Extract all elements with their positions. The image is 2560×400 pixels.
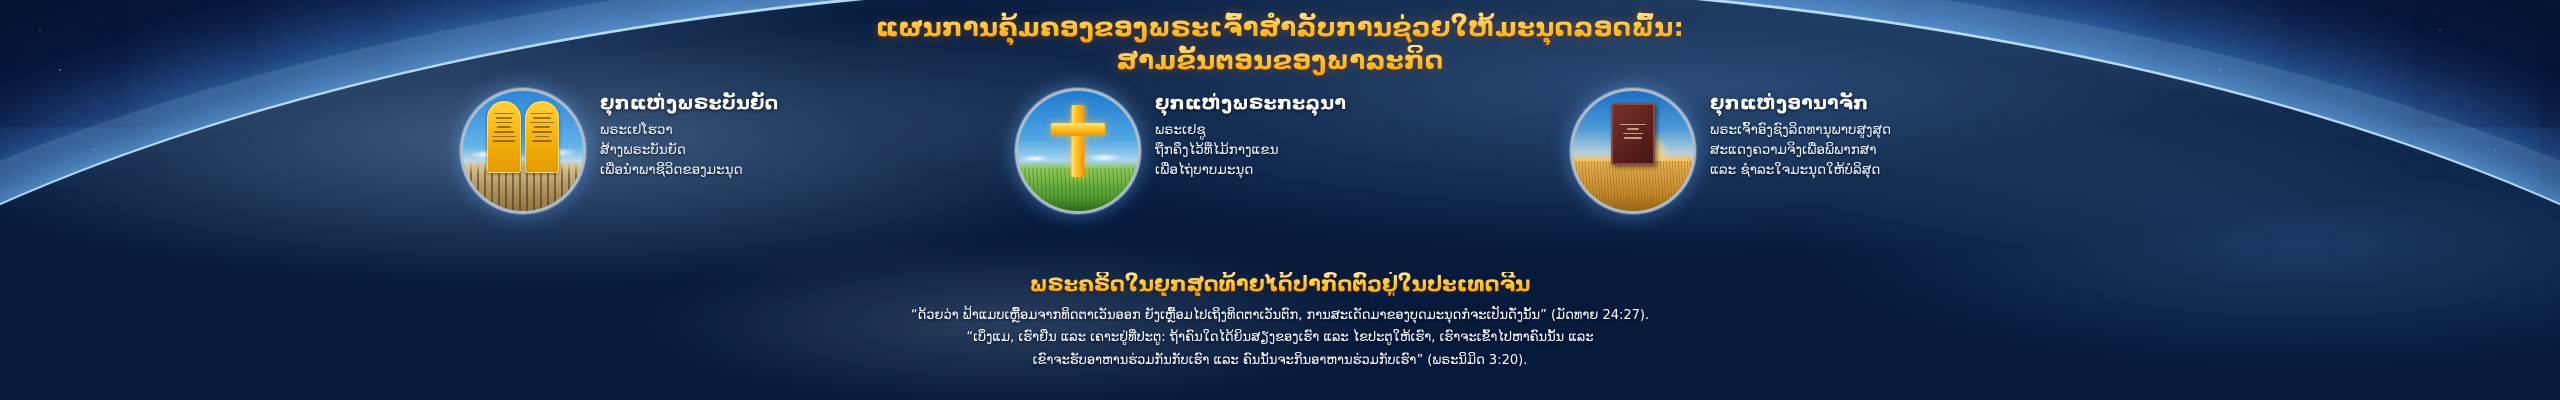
stage-panel-grace: ຍຸກແຫ່ງພຣະກະລຸນາ ພຣະເຢຊູ ຖືກຄຶງໄວ້ທີ່ໄມ້… (1015, 88, 1545, 214)
stage-panel-law: ຍຸກແຫ່ງພຣະບັນຍັດ ພຣະເຢໂຮວາ ສ້າງພຣະບັນຍັດ… (460, 88, 990, 214)
book-icon (1570, 88, 1696, 214)
stage-line: ສະແດງຄວາມຈິງເພື່ອພິພາກສາ (1710, 140, 1891, 160)
stage-heading: ຍຸກແຫ່ງອານາຈັກ (1710, 92, 1891, 116)
stage-line: ພຣະເຈົ້າອົງຊົງລິດທານຸພາບສູງສຸດ (1710, 120, 1891, 140)
cross-icon (1015, 88, 1141, 214)
stage-line: ແລະ ຊຳລະໃຈມະນຸດໃຫ້ບໍລິສຸດ (1710, 160, 1891, 180)
stage-heading: ຍຸກແຫ່ງພຣະກະລຸນາ (1155, 92, 1346, 116)
stage-line: ຖືກຄຶງໄວ້ທີ່ໄມ້ກາງແຂນ (1155, 140, 1346, 160)
stage-panel-kingdom: ຍຸກແຫ່ງອານາຈັກ ພຣະເຈົ້າອົງຊົງລິດທານຸພາບສ… (1570, 88, 2100, 214)
stage-heading: ຍຸກແຫ່ງພຣະບັນຍັດ (600, 92, 778, 116)
stone-tablets-icon (460, 88, 586, 214)
title-line-2: ສາມຂັ້ນຕອນຂອງພາລະກິດ (0, 45, 2560, 78)
stage-text-grace: ຍຸກແຫ່ງພຣະກະລຸນາ ພຣະເຢຊູ ຖືກຄຶງໄວ້ທີ່ໄມ້… (1155, 88, 1346, 181)
stage-line: ພຣະເຢຊູ (1155, 120, 1346, 140)
scripture-line: ເຂົາຈະຮັບອາຫານຮ່ວມກັນກັບເຮົາ ແລະ ຄົນນັ້ນ… (630, 350, 1930, 372)
scripture-line: “ດ້ວຍວ່າ ຟ້າແມບເຫຼື້ອມຈາກທິດຕາເວັນອອກ ຍັ… (630, 305, 1930, 327)
scripture-block: “ດ້ວຍວ່າ ຟ້າແມບເຫຼື້ອມຈາກທິດຕາເວັນອອກ ຍັ… (630, 305, 1930, 372)
stage-line: ເພື່ອໄຖ່ບາບມະນຸດ (1155, 160, 1346, 180)
tablets-graphic (487, 101, 559, 173)
title-line-1: ແຜນການຄຸ້ມຄອງຂອງພຣະເຈົ້າສຳລັບການຊ່ວຍໃຫ້ມ… (0, 12, 2560, 45)
book-graphic (1611, 103, 1655, 165)
tablet-left (487, 101, 521, 173)
stages-panel-group: ຍຸກແຫ່ງພຣະບັນຍັດ ພຣະເຢໂຮວາ ສ້າງພຣະບັນຍັດ… (460, 88, 2100, 214)
stage-line: ສ້າງພຣະບັນຍັດ (600, 140, 778, 160)
stage-text-kingdom: ຍຸກແຫ່ງອານາຈັກ ພຣະເຈົ້າອົງຊົງລິດທານຸພາບສ… (1710, 88, 1891, 181)
banner-root: ແຜນການຄຸ້ມຄອງຂອງພຣະເຈົ້າສຳລັບການຊ່ວຍໃຫ້ມ… (0, 0, 2560, 400)
bottom-heading: ພຣະຄຣິດໃນຍຸກສຸດທ້າຍໄດ້ປາກົດຕົວຢູ່ໃນປະເທດ… (0, 272, 2560, 296)
stage-line: ພຣະເຢໂຮວາ (600, 120, 778, 140)
tablet-right (525, 101, 559, 173)
stage-text-law: ຍຸກແຫ່ງພຣະບັນຍັດ ພຣະເຢໂຮວາ ສ້າງພຣະບັນຍັດ… (600, 88, 778, 181)
wheat-field-decor (1573, 161, 1693, 211)
stage-line: ເພື່ອນຳພາຊີວິດຂອງມະນຸດ (600, 160, 778, 180)
banner-title: ແຜນການຄຸ້ມຄອງຂອງພຣະເຈົ້າສຳລັບການຊ່ວຍໃຫ້ມ… (0, 12, 2560, 77)
scripture-line: “ເບິ່ງແມ, ເຮົາຢືນ ແລະ ເຄາະຢູ່ທີ່ປະຕູ: ຖ້… (630, 327, 1930, 349)
cross-graphic (1051, 105, 1105, 177)
